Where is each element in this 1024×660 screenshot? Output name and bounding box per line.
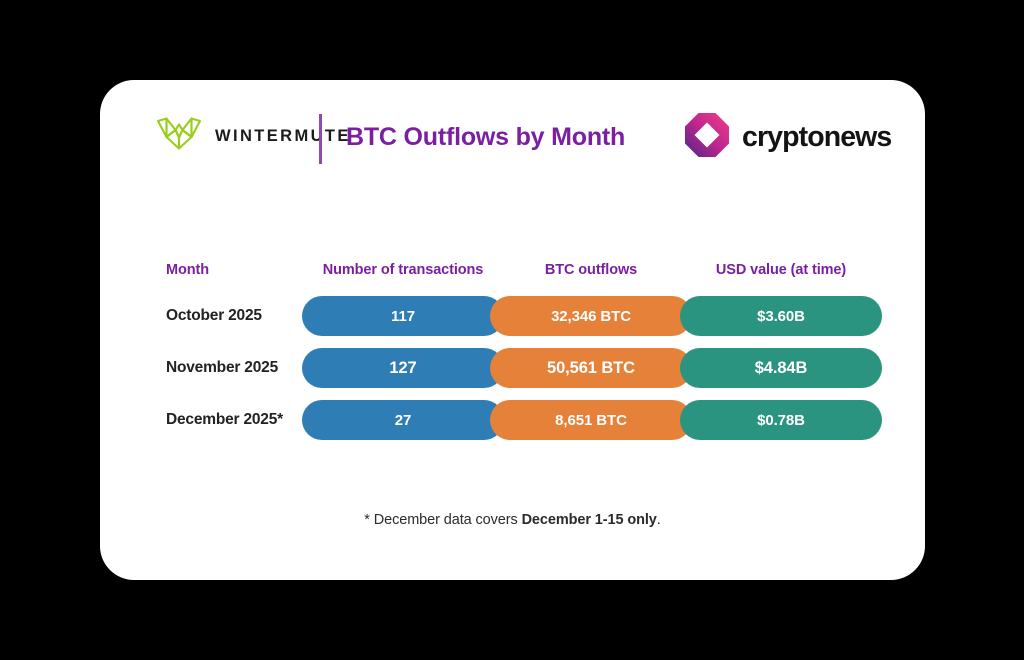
header-divider	[319, 114, 322, 164]
wintermute-wordmark: WINTERMUTE	[215, 128, 351, 145]
footnote: * December data covers December 1-15 onl…	[100, 512, 925, 528]
transactions-pill: 127	[302, 348, 504, 388]
btc-outflows-pill: 8,651 BTC	[490, 400, 692, 440]
column-header-usd-value: USD value (at time)	[680, 250, 882, 290]
cryptonews-logo-icon	[684, 112, 730, 163]
usd-value-pill: $0.78B	[680, 400, 882, 440]
screenshot-root: WINTERMUTE BTC Outflows by Month	[0, 0, 1024, 660]
transactions-pill: 27	[302, 400, 504, 440]
footnote-suffix: .	[657, 512, 661, 528]
footnote-prefix: * December data covers	[364, 512, 521, 528]
btc-outflows-pill: 50,561 BTC	[490, 348, 692, 388]
page-title: BTC Outflows by Month	[346, 120, 625, 155]
column-header-transactions: Number of transactions	[302, 250, 504, 290]
card-header: WINTERMUTE BTC Outflows by Month	[100, 112, 925, 172]
btc-outflows-pill: 32,346 BTC	[490, 296, 692, 336]
usd-value-pill: $3.60B	[680, 296, 882, 336]
column-header-btc-outflows: BTC outflows	[490, 250, 692, 290]
table-row: December 2025* 27 8,651 BTC $0.78B	[100, 394, 925, 446]
transactions-pill: 117	[302, 296, 504, 336]
wintermute-logo-icon	[156, 117, 202, 156]
table-header-row: Month Number of transactions BTC outflow…	[100, 250, 925, 290]
usd-value-pill: $4.84B	[680, 348, 882, 388]
infographic-card: WINTERMUTE BTC Outflows by Month	[100, 80, 925, 580]
cryptonews-brand: cryptonews	[684, 112, 891, 163]
cryptonews-wordmark: cryptonews	[742, 123, 891, 152]
table-row: October 2025 117 32,346 BTC $3.60B	[100, 290, 925, 342]
table-row: November 2025 127 50,561 BTC $4.84B	[100, 342, 925, 394]
outflows-table: Month Number of transactions BTC outflow…	[100, 250, 925, 446]
footnote-emphasis: December 1-15 only	[522, 512, 657, 528]
